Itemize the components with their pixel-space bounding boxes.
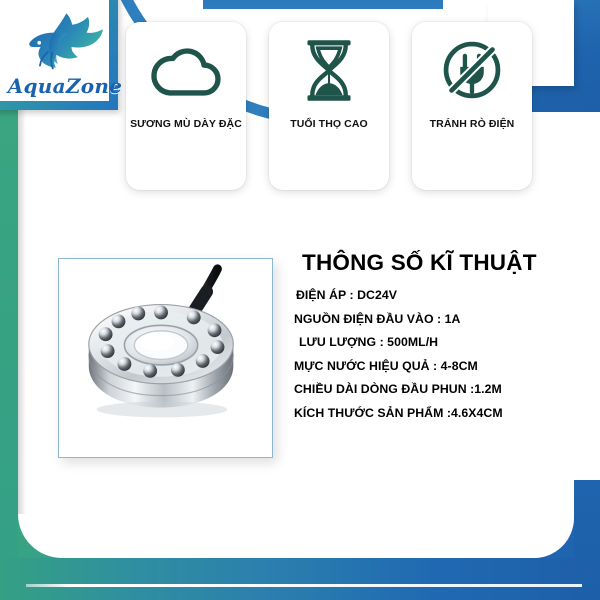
spec-input-power: NGUỒN ĐIỆN ĐẦU VÀO : 1A <box>294 312 584 326</box>
spec-product-size: KÍCH THƯỚC SẢN PHẨM :4.6X4CM <box>294 406 584 420</box>
product-info-banner: AquaZone SƯƠNG MÙ DÀY ĐẶC <box>0 0 600 600</box>
no-electric-leak-icon <box>412 22 532 118</box>
feature-card-label: TUỔI THỌ CAO <box>290 118 368 130</box>
feature-card-lifespan[interactable]: TUỔI THỌ CAO <box>269 22 389 190</box>
angelfish-icon <box>22 11 108 73</box>
product-image-frame <box>58 258 273 458</box>
bottom-white-hairline <box>26 584 582 587</box>
bottom-left-corner-curve <box>18 514 62 558</box>
brand-name: AquaZone <box>8 74 123 98</box>
specifications-panel: THÔNG SỐ KĨ THUẬT ĐIỆN ÁP : DC24V NGUỒN … <box>294 250 584 429</box>
bottom-gradient-band <box>0 558 600 600</box>
spec-voltage: ĐIỆN ÁP : DC24V <box>296 288 584 302</box>
specifications-title: THÔNG SỐ KĨ THUẬT <box>302 250 584 276</box>
spec-flow-rate: LƯU LƯỢNG : 500ML/H <box>299 335 584 349</box>
mist-maker-icon <box>59 259 272 457</box>
left-band-shadow <box>18 110 26 580</box>
left-green-band <box>0 110 18 600</box>
brand-logo: AquaZone <box>6 4 124 112</box>
feature-card-label: SƯƠNG MÙ DÀY ĐẶC <box>130 118 242 130</box>
feature-card-mist[interactable]: SƯƠNG MÙ DÀY ĐẶC <box>126 22 246 190</box>
top-blue-swoosh-upper <box>203 0 443 9</box>
right-blue-band <box>574 480 600 600</box>
feature-card-label: TRÁNH RÒ ĐIỆN <box>430 118 515 130</box>
cloud-icon <box>126 22 246 118</box>
spec-spray-length: CHIỀU DÀI DÒNG ĐẦU PHUN :1.2M <box>294 382 584 396</box>
feature-card-no-leak[interactable]: TRÁNH RÒ ĐIỆN <box>412 22 532 190</box>
spec-water-level: MỰC NƯỚC HIỆU QUẢ : 4-8CM <box>294 359 584 373</box>
feature-cards: SƯƠNG MÙ DÀY ĐẶC TUỔI THỌ CAO <box>126 22 536 190</box>
bottom-right-corner-curve <box>534 518 574 558</box>
hourglass-icon <box>269 22 389 118</box>
